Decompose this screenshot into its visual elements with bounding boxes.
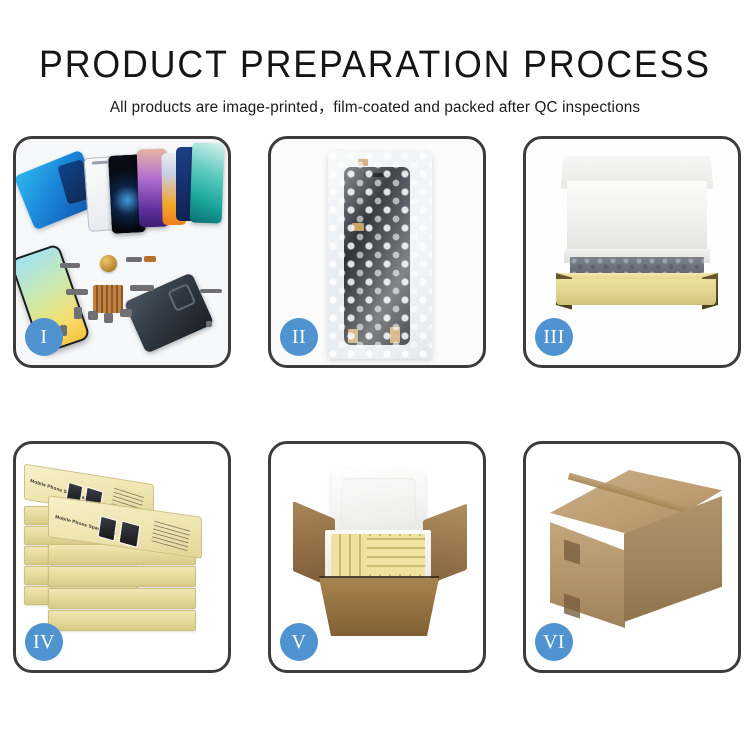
speaker-part (104, 313, 113, 323)
flex-cable-part (66, 289, 88, 295)
flex-cable-part (126, 257, 142, 262)
small-component (120, 309, 132, 317)
foam-inner-wall (567, 181, 707, 255)
stylus-tool (200, 289, 222, 293)
process-step-2: II (268, 136, 486, 368)
small-component (74, 307, 82, 319)
plastic-sheen (328, 151, 432, 359)
carton-packing-illustration: V (271, 444, 483, 670)
process-step-grid: I II (13, 136, 741, 673)
box-label-spec-lines (152, 518, 191, 551)
carton-body (319, 578, 439, 636)
box-stack-illustration: Mobile Phone Spare Parts Mobile Phone Sp… (16, 444, 228, 670)
small-component (88, 311, 98, 320)
teal-gradient-phone (190, 142, 225, 223)
step-badge-5: V (280, 623, 318, 661)
stacked-box (48, 588, 196, 609)
logic-board-chip (93, 285, 123, 313)
header: PRODUCT PREPARATION PROCESS All products… (0, 0, 750, 117)
bubble-wrap-bag (328, 151, 432, 359)
process-step-5: V (268, 441, 486, 673)
box-label-phone-image (118, 520, 140, 548)
carton-left-face (550, 522, 625, 628)
stacked-box (48, 566, 196, 587)
phone-parts-illustration: I (16, 139, 228, 365)
screw-part (206, 321, 212, 327)
sealed-carton-illustration: VI (526, 444, 738, 670)
page-subtitle: All products are image-printed，film-coat… (6, 86, 745, 117)
process-step-6: VI (523, 441, 741, 673)
foam-box-lid (330, 469, 427, 534)
camera-module-part (100, 255, 117, 272)
flex-cable-part (60, 263, 80, 268)
step-badge-2: II (280, 318, 318, 356)
step-badge-4: IV (25, 623, 63, 661)
flex-cable-part (130, 285, 154, 291)
process-step-4: Mobile Phone Spare Parts Mobile Phone Sp… (13, 441, 231, 673)
connector-part (144, 256, 156, 262)
process-step-1: I (13, 136, 231, 368)
process-step-3: III (523, 136, 741, 368)
step-badge-3: III (535, 318, 573, 356)
kraft-tray-front (556, 279, 716, 305)
bubble-wrap-illustration: II (271, 139, 483, 365)
step-badge-6: VI (535, 623, 573, 661)
stacked-box (48, 610, 196, 631)
box-label-phone-image (98, 515, 118, 541)
packed-kraft-boxes (367, 536, 425, 574)
step-badge-1: I (25, 318, 63, 356)
carton-tape-lower (564, 593, 580, 618)
open-tray-illustration: III (526, 139, 738, 365)
product-preparation-infographic: PRODUCT PREPARATION PROCESS All products… (0, 0, 750, 750)
page-title: PRODUCT PREPARATION PROCESS (23, 0, 728, 86)
